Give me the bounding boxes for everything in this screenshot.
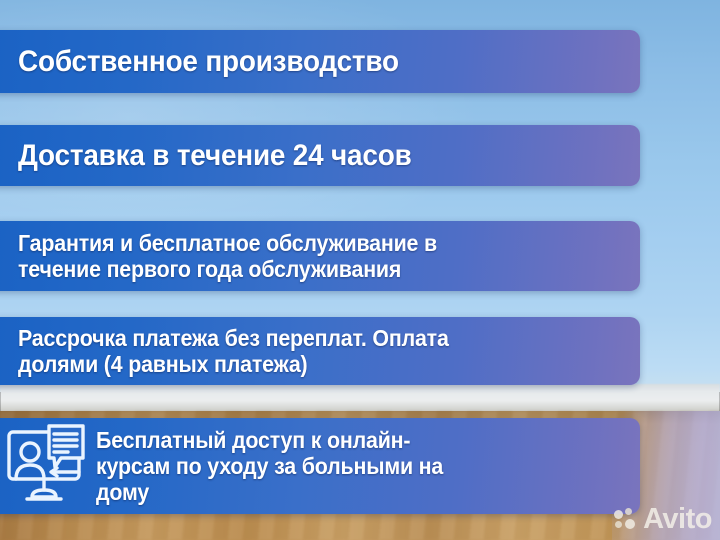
avito-wordmark: Avito [643, 505, 712, 534]
promo-banner: Собственное производство Доставка в тече… [0, 0, 720, 540]
feature-text: Бесплатный доступ к онлайн- курсам по ух… [96, 427, 443, 505]
background-baseboard [0, 384, 720, 414]
feature-bar-installments: Рассрочка платежа без переплат. Оплата д… [0, 317, 640, 385]
feature-bar-own-production: Собственное производство [0, 30, 640, 93]
feature-bar-warranty-free-service: Гарантия и бесплатное обслуживание в теч… [0, 221, 640, 291]
feature-text: Рассрочка платежа без переплат. Оплата д… [18, 325, 449, 377]
feature-text: Доставка в течение 24 часов [18, 139, 412, 173]
monitor-person-document-icon [2, 422, 96, 510]
feature-bar-delivery-24h: Доставка в течение 24 часов [0, 125, 640, 186]
avito-watermark: Avito [614, 505, 712, 534]
feature-bar-free-online-courses: Бесплатный доступ к онлайн- курсам по ух… [0, 418, 640, 514]
avito-dots-icon [614, 508, 638, 532]
feature-text: Собственное производство [18, 45, 399, 79]
feature-text: Гарантия и бесплатное обслуживание в теч… [18, 230, 437, 282]
